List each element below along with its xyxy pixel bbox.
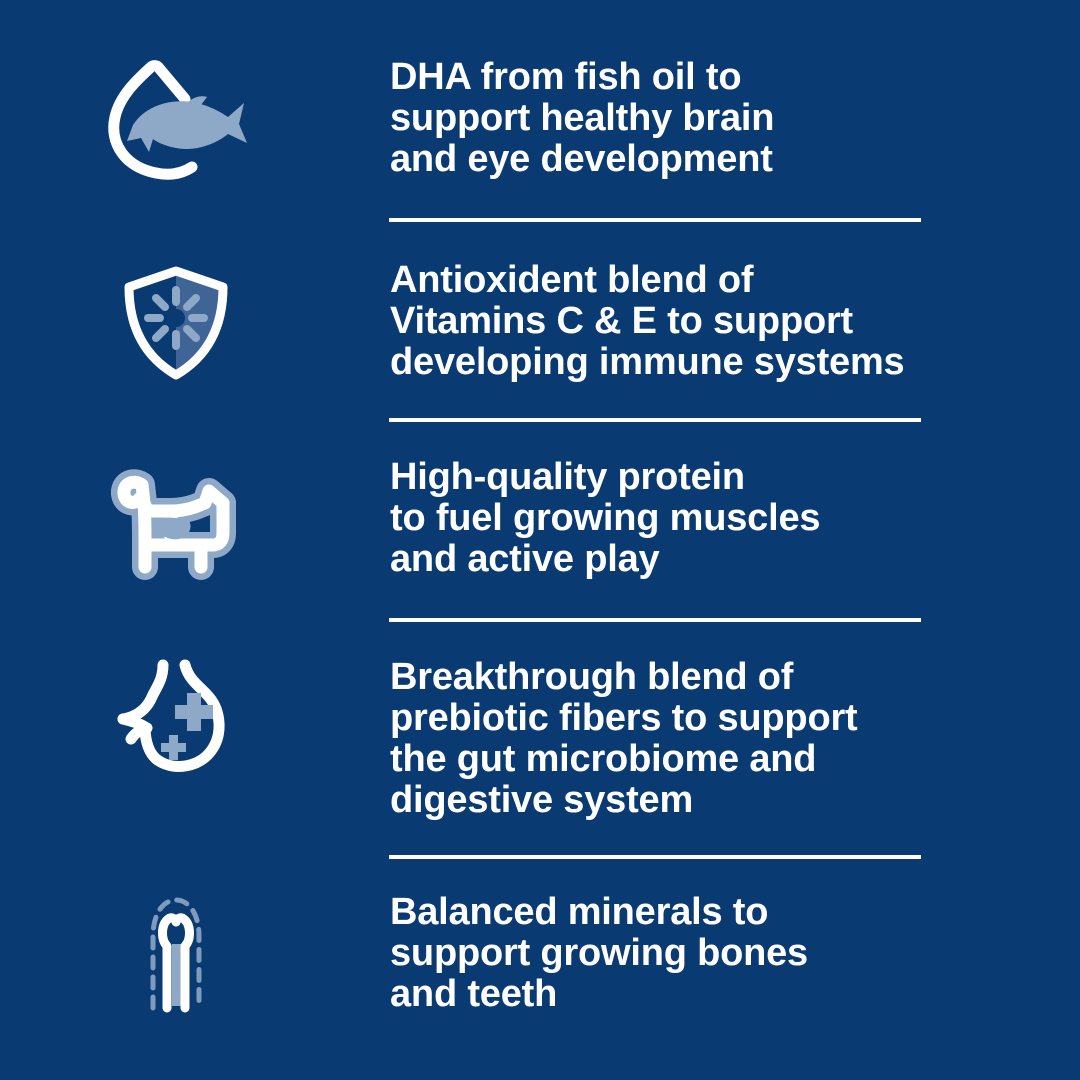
benefit-text-cell: Antioxident blend of Vitamins C & E to s… bbox=[390, 258, 1080, 383]
benefit-text-protein: High-quality protein to fuel growing mus… bbox=[390, 457, 1080, 580]
benefit-row-dha: DHA from fish oil to support healthy bra… bbox=[0, 55, 1080, 185]
benefit-text-dha: DHA from fish oil to support healthy bra… bbox=[390, 57, 1080, 180]
divider-3 bbox=[389, 618, 921, 622]
benefit-text-prebiotic: Breakthrough blend of prebiotic fibers t… bbox=[390, 657, 1080, 821]
benefit-row-protein: High-quality protein to fuel growing mus… bbox=[0, 455, 1080, 587]
benefit-text-antioxidant: Antioxident blend of Vitamins C & E to s… bbox=[390, 260, 1080, 383]
dog-icon bbox=[0, 455, 390, 587]
benefit-row-prebiotic: Breakthrough blend of prebiotic fibers t… bbox=[0, 655, 1080, 821]
benefits-panel: DHA from fish oil to support healthy bra… bbox=[0, 0, 1080, 1080]
stomach-with-plus-signs-icon bbox=[0, 655, 390, 780]
divider-4 bbox=[389, 855, 921, 859]
benefit-text-cell: DHA from fish oil to support healthy bra… bbox=[390, 55, 1080, 180]
divider-1 bbox=[389, 218, 921, 222]
benefit-text-minerals: Balanced minerals to support growing bon… bbox=[390, 892, 1080, 1015]
benefit-row-minerals: Balanced minerals to support growing bon… bbox=[0, 890, 1080, 1015]
bone-icon bbox=[0, 890, 390, 1015]
benefit-text-cell: High-quality protein to fuel growing mus… bbox=[390, 455, 1080, 580]
divider-2 bbox=[389, 418, 921, 422]
benefit-text-cell: Balanced minerals to support growing bon… bbox=[390, 890, 1080, 1015]
benefit-text-cell: Breakthrough blend of prebiotic fibers t… bbox=[390, 655, 1080, 821]
fish-in-water-droplet-icon bbox=[0, 55, 390, 185]
benefit-row-antioxidant: Antioxident blend of Vitamins C & E to s… bbox=[0, 258, 1080, 388]
shield-with-sunburst-icon bbox=[0, 258, 390, 388]
